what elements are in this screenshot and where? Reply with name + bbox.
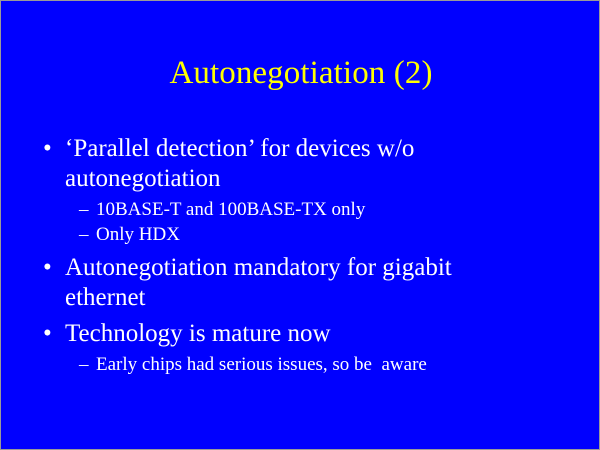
presentation-slide: Autonegotiation (2) • ‘Parallel detectio…	[0, 0, 600, 450]
bullet-marker-dash: –	[79, 352, 96, 377]
bullet-text: Only HDX	[96, 222, 556, 247]
bullet-marker-dot: •	[43, 253, 65, 283]
bullet-text: ‘Parallel detection’ for devices w/o aut…	[65, 134, 497, 194]
bullet-item-level2: – 10BASE-T and 100BASE-TX only	[1, 197, 600, 222]
bullet-text: 10BASE-T and 100BASE-TX only	[96, 197, 556, 222]
bullet-marker-dash: –	[79, 197, 96, 222]
bullet-marker-dot: •	[43, 134, 65, 164]
slide-body-content: • ‘Parallel detection’ for devices w/o a…	[1, 134, 600, 377]
bullet-item-level1: • ‘Parallel detection’ for devices w/o a…	[1, 134, 600, 194]
bullet-item-level2: – Only HDX	[1, 222, 600, 247]
bullet-marker-dot: •	[43, 319, 65, 349]
bullet-item-level1: • Technology is mature now	[1, 319, 600, 349]
bullet-item-level1: • Autonegotiation mandatory for gigabit …	[1, 253, 600, 313]
bullet-text: Technology is mature now	[65, 319, 497, 349]
bullet-marker-dash: –	[79, 222, 96, 247]
slide-title: Autonegotiation (2)	[1, 53, 600, 93]
bullet-text: Autonegotiation mandatory for gigabit et…	[65, 253, 497, 313]
bullet-text: Early chips had serious issues, so be aw…	[96, 352, 556, 377]
bullet-item-level2: – Early chips had serious issues, so be …	[1, 352, 600, 377]
